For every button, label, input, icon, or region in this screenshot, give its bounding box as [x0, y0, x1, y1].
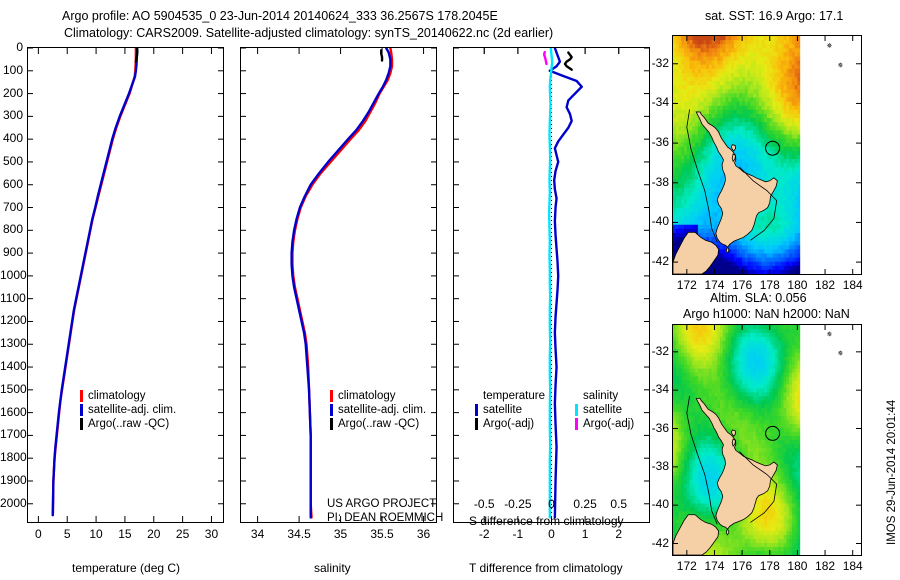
y-tick-300: 300 [0, 108, 23, 122]
x-tick-5: 5 [45, 527, 89, 541]
series-climatology [53, 48, 136, 515]
y-tick-1000: 1000 [0, 268, 23, 282]
series-salinity-argo-adj- [544, 52, 546, 64]
temperature-plot-area [28, 48, 223, 522]
difference-legend-salinity-group: salinity satellite Argo(-adj) [575, 390, 634, 430]
legend-label-salinity-satellite: satellite [583, 404, 622, 416]
station-mark-icon: ✵ [826, 42, 832, 50]
x-tick-neg2: -2 [462, 527, 506, 541]
y-tick-1300: 1300 [0, 336, 23, 350]
x-tick-35: 35 [319, 527, 363, 541]
temperature-x-axis-label: temperature (deg C) [72, 561, 180, 575]
legend-label-temperature-satellite: satellite [483, 404, 522, 416]
legend-swatch-temperature-satellite [475, 404, 478, 416]
temperature-legend: climatology satellite-adj. clim. Argo(..… [80, 390, 176, 430]
y-tick-1200: 1200 [0, 313, 23, 327]
x-tick-10: 10 [74, 527, 118, 541]
sla-map-panel: ✵✵ [672, 324, 862, 556]
pi-credit: PI: DEAN ROEMMICH [327, 512, 443, 524]
y-tick-600: 600 [0, 177, 23, 191]
legend-heading-temperature: temperature [475, 390, 545, 402]
legend-item-temperature-argo-adj: Argo(-adj) [475, 418, 545, 430]
map-x-tick-184: 184 [837, 278, 869, 292]
header-line-2: Climatology: CARS2009. Satellite-adjuste… [64, 26, 553, 40]
y-tick-1500: 1500 [0, 382, 23, 396]
map-x-tick-180: 180 [781, 278, 813, 292]
sla-map-title-line1: Altim. SLA: 0.056 [710, 291, 807, 305]
map-x-tick-182: 182 [809, 278, 841, 292]
x-tick-neg1: -1 [496, 527, 540, 541]
legend-swatch-climatology-2 [330, 390, 333, 402]
x-tick-2: 2 [597, 527, 641, 541]
y-tick-900: 900 [0, 245, 23, 259]
x-tick-1: 1 [563, 527, 607, 541]
legend-swatch-satellite-adj-clim [80, 404, 83, 416]
y-tick-1100: 1100 [0, 291, 23, 305]
x-tick-30: 30 [189, 527, 233, 541]
project-credit: US ARGO PROJECT [327, 498, 436, 510]
x-tick-15: 15 [103, 527, 147, 541]
difference-s-axis-label: S difference from climatology [469, 514, 624, 528]
map-x-tick-174: 174 [698, 559, 730, 573]
series-satellite-adj-clim- [292, 48, 391, 517]
legend-label-argo-raw-2: Argo(..raw -QC) [338, 418, 419, 430]
x-tick-36: 36 [402, 527, 446, 541]
legend-item-temperature-satellite: satellite [475, 404, 545, 416]
legend-item-satellite-adj-clim: satellite-adj. clim. [80, 404, 176, 416]
difference-plot-area [454, 48, 649, 522]
legend-swatch-salinity-argo-adj [575, 418, 578, 430]
map-x-tick-178: 178 [754, 278, 786, 292]
legend-swatch-argo-raw-2 [330, 418, 333, 430]
series-temperature-satellite [550, 48, 582, 517]
x-tick-25: 25 [161, 527, 205, 541]
series-climatology [292, 48, 392, 517]
salinity-x-axis-label: salinity [314, 561, 351, 575]
map-x-tick-178: 178 [754, 559, 786, 573]
y-tick-400: 400 [0, 131, 23, 145]
legend-heading-salinity: salinity [575, 390, 634, 402]
y-tick-2000: 2000 [0, 496, 23, 510]
legend-label-salinity-argo-adj: Argo(-adj) [583, 418, 634, 430]
station-mark-icon: ✵ [838, 350, 844, 358]
y-tick-1600: 1600 [0, 405, 23, 419]
x-tick-35p5: 35.5 [360, 527, 404, 541]
map-x-tick-176: 176 [726, 559, 758, 573]
y-tick-1900: 1900 [0, 473, 23, 487]
map-y-tick-neg42: -42 [640, 536, 669, 550]
sla-map-area: ✵✵ [673, 325, 861, 555]
legend-heading-salinity-label: salinity [583, 390, 618, 402]
sla-map-title-line2: Argo h1000: NaN h2000: NaN [683, 307, 850, 321]
map-x-tick-180: 180 [781, 559, 813, 573]
legend-item-climatology-2: climatology [330, 390, 426, 402]
map-x-tick-182: 182 [809, 559, 841, 573]
x-tick-0: 0 [16, 527, 60, 541]
y-tick-700: 700 [0, 200, 23, 214]
legend-swatch-climatology [80, 390, 83, 402]
legend-label-temperature-argo-adj: Argo(-adj) [483, 418, 534, 430]
difference-t-axis-label: T difference from climatology [469, 561, 623, 575]
legend-item-argo-raw: Argo(..raw -QC) [80, 418, 176, 430]
map-x-tick-172: 172 [671, 559, 703, 573]
legend-item-salinity-argo-adj: Argo(-adj) [575, 418, 634, 430]
y-tick-200: 200 [0, 86, 23, 100]
legend-swatch-satellite-adj-clim-2 [330, 404, 333, 416]
x-tick-20: 20 [132, 527, 176, 541]
legend-item-salinity-satellite: satellite [575, 404, 634, 416]
legend-label-satellite-adj-clim-2: satellite-adj. clim. [338, 404, 426, 416]
legend-swatch-salinity-satellite [575, 404, 578, 416]
x-tick-34: 34 [236, 527, 280, 541]
legend-swatch-temperature-argo-adj [475, 418, 478, 430]
station-mark-icon: ✵ [838, 62, 844, 70]
series-argo-raw-qc- [381, 50, 382, 60]
legend-label-climatology: climatology [88, 390, 146, 402]
legend-heading-temperature-label: temperature [483, 390, 545, 402]
salinity-plot-area [241, 48, 436, 522]
difference-legend: temperature satellite Argo(-adj) salinit… [475, 390, 634, 430]
difference-legend-temperature-group: temperature satellite Argo(-adj) [475, 390, 545, 430]
legend-item-argo-raw-2: Argo(..raw -QC) [330, 418, 426, 430]
legend-swatch-argo-raw [80, 418, 83, 430]
sst-map-title: sat. SST: 16.9 Argo: 17.1 [705, 9, 843, 23]
y-tick-1400: 1400 [0, 359, 23, 373]
y-tick-0: 0 [0, 40, 23, 54]
y-tick-1800: 1800 [0, 450, 23, 464]
series-salinity-satellite [549, 48, 552, 517]
y-tick-500: 500 [0, 154, 23, 168]
salinity-profile-panel [240, 47, 437, 523]
y-tick-800: 800 [0, 222, 23, 236]
map-x-tick-172: 172 [671, 278, 703, 292]
legend-item-satellite-adj-clim-2: satellite-adj. clim. [330, 404, 426, 416]
map-x-tick-184: 184 [837, 559, 869, 573]
salinity-legend: climatology satellite-adj. clim. Argo(..… [330, 390, 426, 430]
legend-label-satellite-adj-clim: satellite-adj. clim. [88, 404, 176, 416]
legend-label-argo-raw: Argo(..raw -QC) [88, 418, 169, 430]
legend-item-climatology: climatology [80, 390, 176, 402]
series-satellite-adj-clim- [53, 48, 137, 515]
x-tick-34p5: 34.5 [277, 527, 321, 541]
series-temperature-argo-adj- [565, 53, 572, 70]
map-x-tick-176: 176 [726, 278, 758, 292]
map-x-tick-174: 174 [698, 278, 730, 292]
series-argo-raw-qc- [136, 48, 137, 62]
sst-map-area: ✵✵ [673, 36, 861, 274]
y-tick-1700: 1700 [0, 427, 23, 441]
station-mark-icon: ✵ [826, 331, 832, 339]
x-tick-0: 0 [530, 527, 574, 541]
legend-label-climatology-2: climatology [338, 390, 396, 402]
sst-map-panel: ✵✵ [672, 35, 862, 275]
y-tick-100: 100 [0, 63, 23, 77]
header-line-1: Argo profile: AO 5904535_0 23-Jun-2014 2… [62, 9, 498, 23]
difference-profile-panel [453, 47, 650, 523]
temperature-profile-panel [27, 47, 224, 523]
